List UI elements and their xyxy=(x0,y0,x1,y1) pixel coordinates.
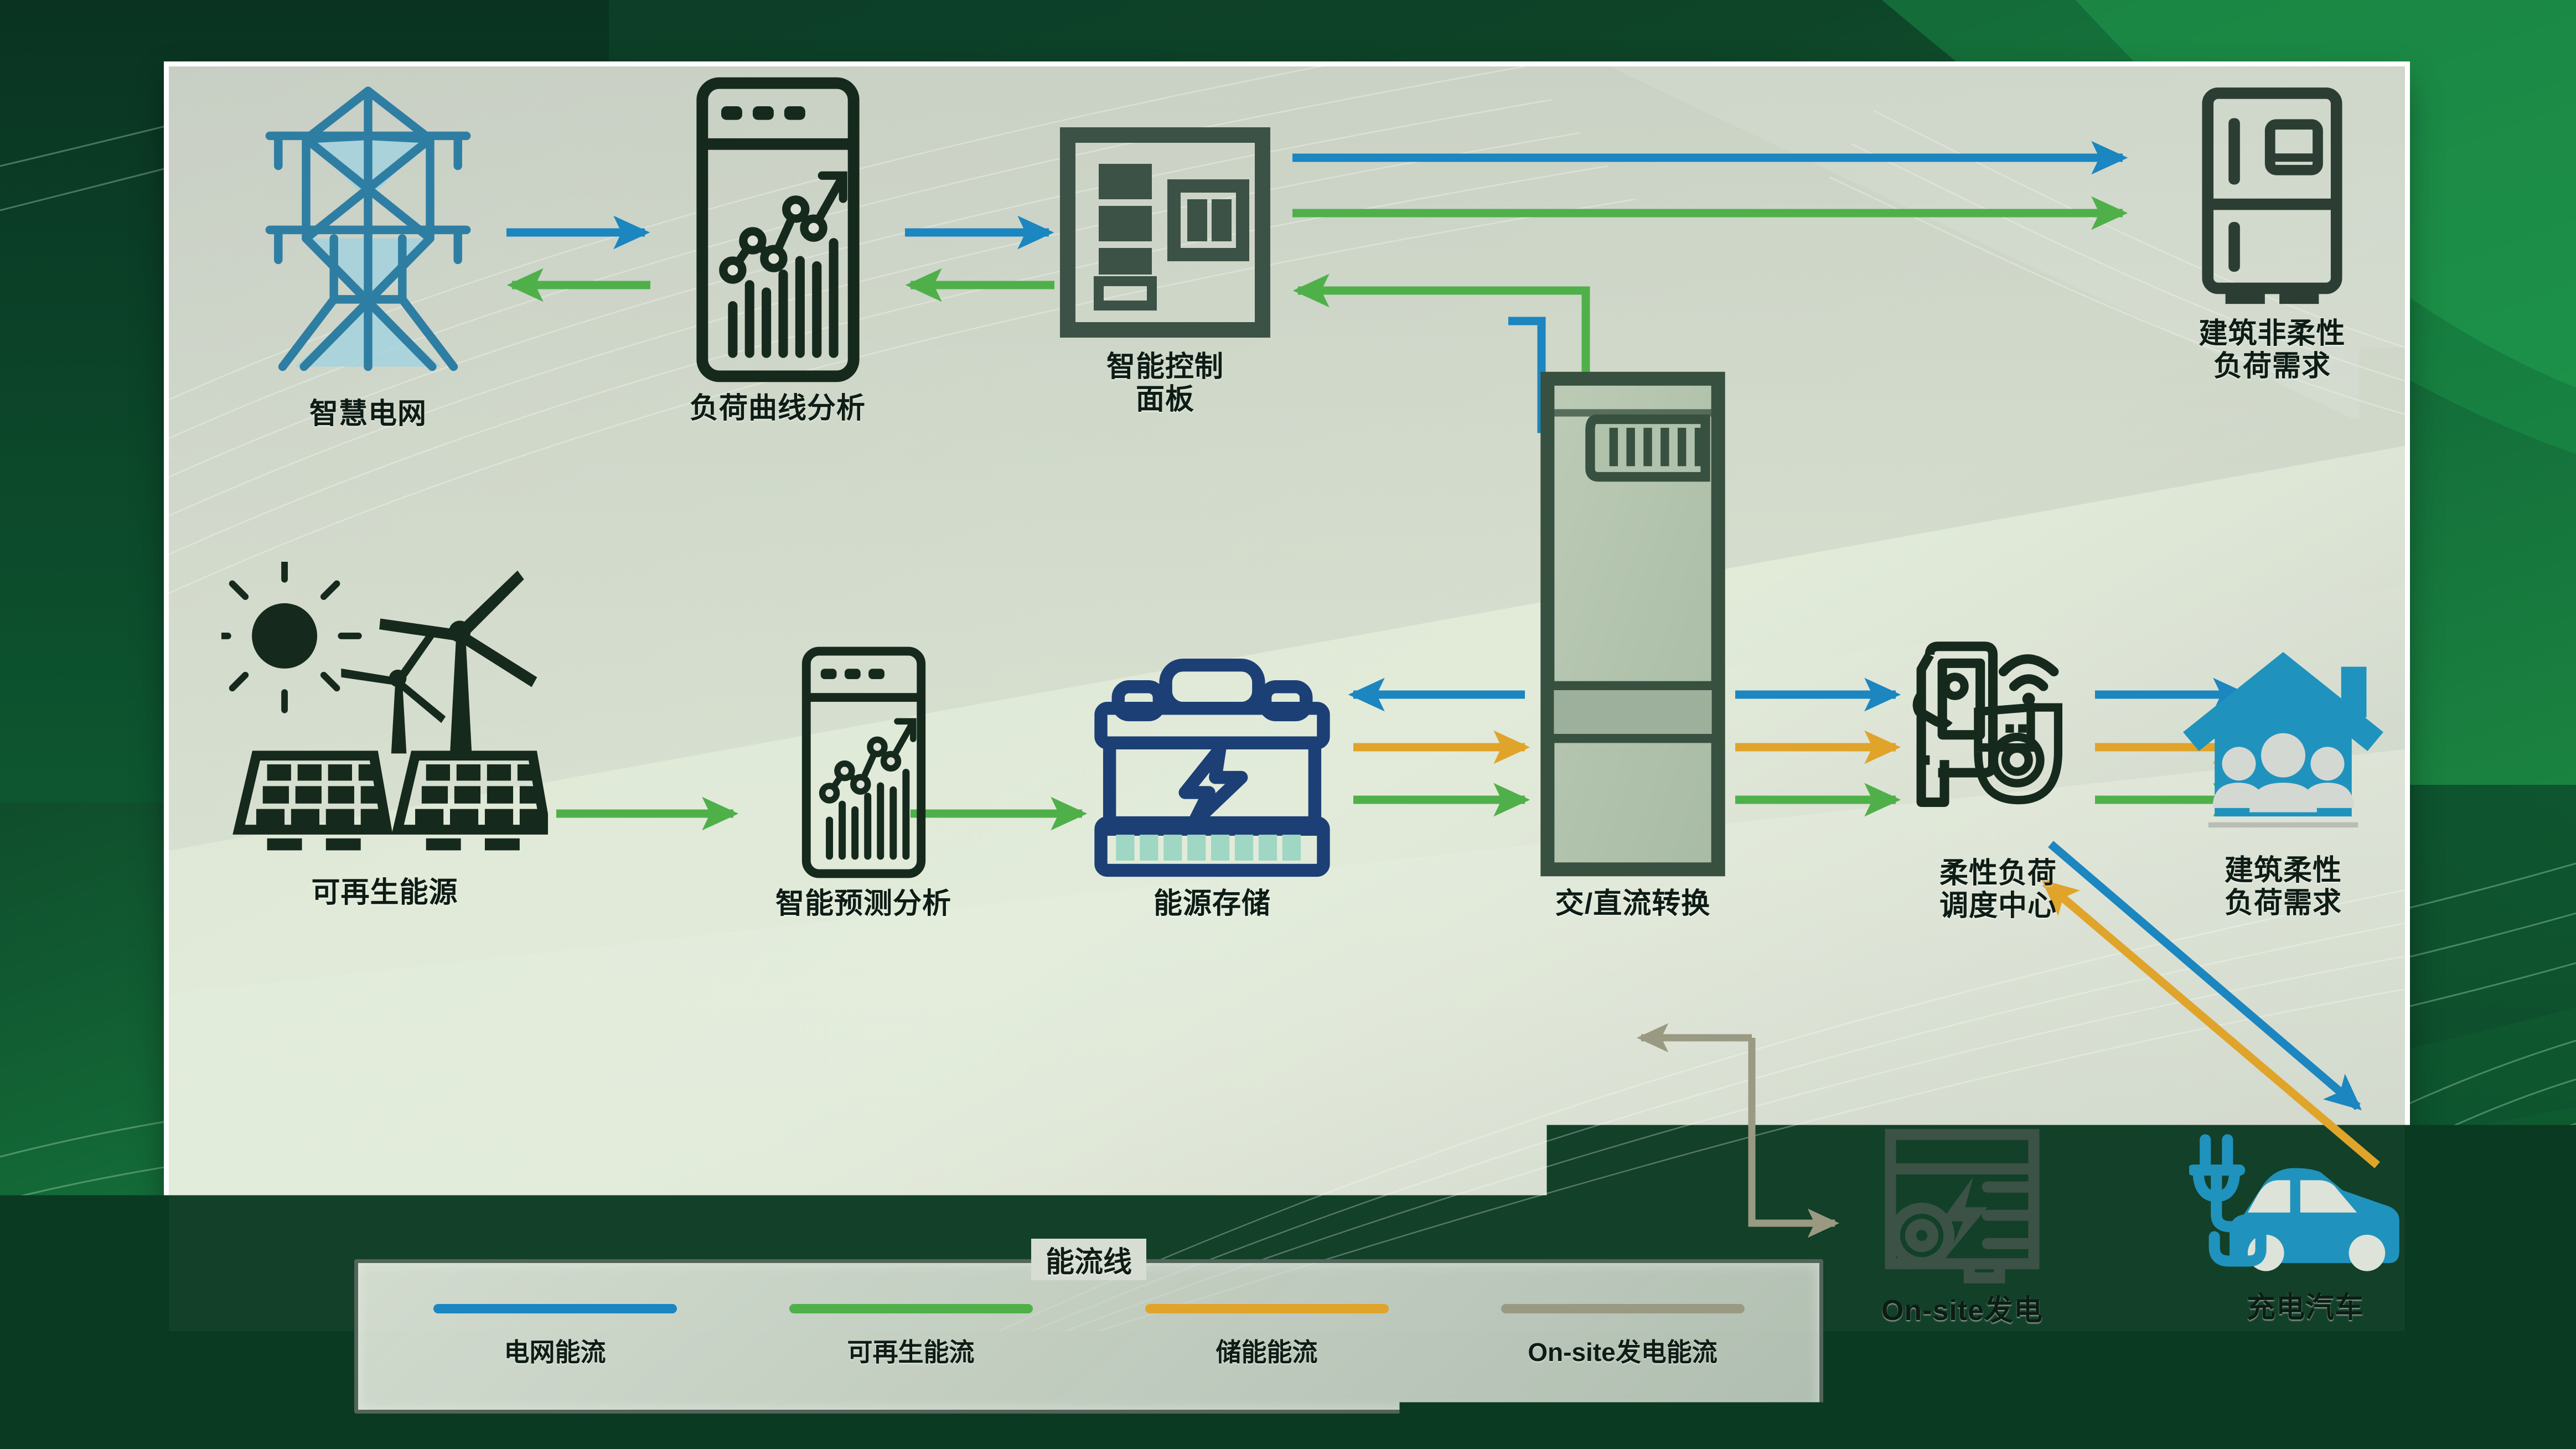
node-label: 建筑非柔性 负荷需求 xyxy=(2199,318,2345,384)
node-smart-grid[interactable]: 智慧电网 xyxy=(224,80,512,431)
node-label: 充电汽车 xyxy=(2247,1292,2364,1324)
house-people-icon xyxy=(2172,642,2394,847)
legend-label-storage: 储能能流 xyxy=(1216,1332,1318,1369)
node-flexible-load-center[interactable]: 柔性负荷 调度中心 xyxy=(1874,628,2123,923)
node-energy-storage[interactable]: 能源存储 xyxy=(1065,653,1359,920)
node-label: 智慧电网 xyxy=(309,398,427,431)
legend-label-onsite: On-site发电能流 xyxy=(1528,1332,1717,1369)
node-building-inflexible[interactable]: 建筑非柔性 负荷需求 xyxy=(2128,77,2416,384)
node-smart-forecast[interactable]: 智能预测分析 xyxy=(731,642,996,920)
legend-swatch-storage xyxy=(1145,1304,1389,1313)
legend-swatch-renewable xyxy=(789,1304,1033,1313)
node-building-flexible[interactable]: 建筑柔性 负荷需求 xyxy=(2139,642,2427,920)
legend-label-grid: 电网能流 xyxy=(504,1332,606,1369)
node-label: 柔性负荷 调度中心 xyxy=(1939,857,2057,923)
node-label: 可再生能源 xyxy=(311,877,458,909)
mobile-camera-wifi-icon xyxy=(1887,628,2109,850)
node-label: 负荷曲线分析 xyxy=(690,392,866,425)
node-label: 交/直流转换 xyxy=(1555,888,1710,920)
diagram-canvas: 智慧电网 xyxy=(0,0,2576,1449)
legend-item-storage[interactable]: 储能能流 xyxy=(1145,1304,1389,1369)
ev-plug-car-icon xyxy=(2189,1118,2422,1284)
node-label: 智能控制 面板 xyxy=(1106,351,1224,417)
node-label: On-site发电 xyxy=(1881,1295,2043,1327)
node-label: 智能预测分析 xyxy=(775,888,951,920)
legend-panel: 能流线 电网能流 可再生能流 储能能流 On-site发电能流 xyxy=(354,1259,1823,1414)
legend-swatch-onsite xyxy=(1501,1304,1745,1313)
legend-item-grid[interactable]: 电网能流 xyxy=(433,1304,677,1369)
diagram-card: 智慧电网 xyxy=(169,66,2405,1331)
converter-cabinet-icon xyxy=(1536,365,1730,880)
legend-label-renewable: 可再生能流 xyxy=(847,1332,975,1369)
battery-icon xyxy=(1088,653,1337,880)
chart-window-icon xyxy=(694,72,862,385)
transmission-tower-icon xyxy=(238,80,498,390)
solar-wind-icon xyxy=(221,559,548,869)
node-load-curve-analysis[interactable]: 负荷曲线分析 xyxy=(645,72,911,425)
chart-window-icon xyxy=(779,642,948,880)
legend-swatch-grid xyxy=(433,1304,677,1313)
node-label: 建筑柔性 负荷需求 xyxy=(2225,855,2342,920)
legend-item-renewable[interactable]: 可再生能流 xyxy=(789,1304,1033,1369)
node-onsite-generation[interactable]: On-site发电 xyxy=(1835,1121,2089,1327)
node-smart-control-panel[interactable]: 智能控制 面板 xyxy=(1032,100,1298,417)
node-label: 能源存储 xyxy=(1153,888,1271,920)
node-ac-dc-conversion[interactable]: 交/直流转换 xyxy=(1489,365,1777,920)
node-ev-charging[interactable]: 充电汽车 xyxy=(2161,1118,2449,1324)
control-panel-icon xyxy=(1054,100,1276,343)
legend-item-onsite[interactable]: On-site发电能流 xyxy=(1501,1304,1745,1369)
refrigerator-icon xyxy=(2189,77,2355,310)
node-renewable-energy[interactable]: 可再生能源 xyxy=(202,559,567,909)
generator-icon xyxy=(1876,1121,2048,1287)
